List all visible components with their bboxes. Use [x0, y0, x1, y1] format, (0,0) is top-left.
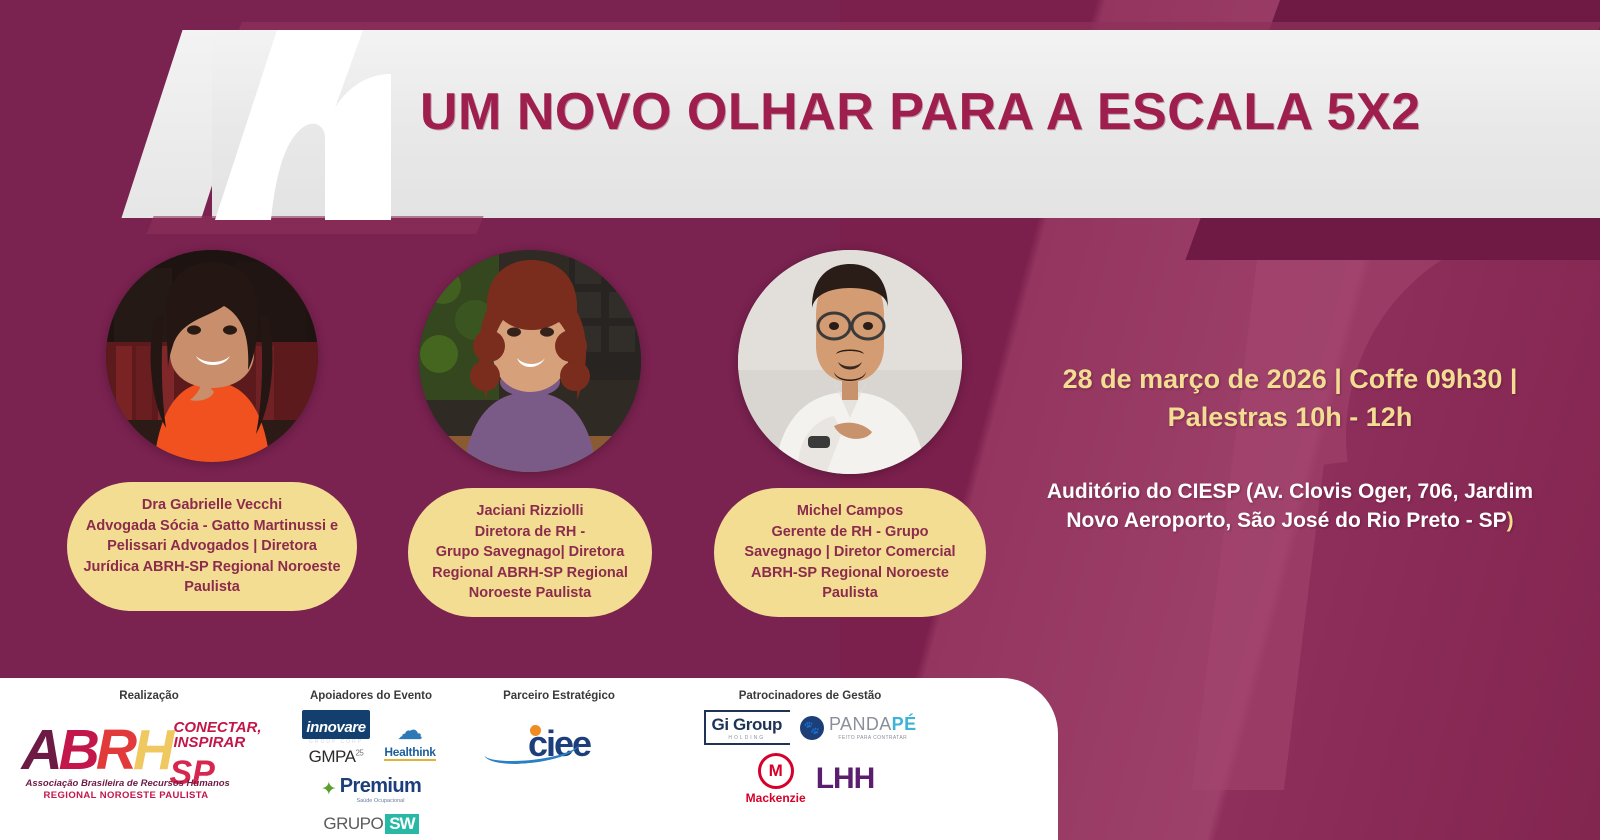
event-venue-line2: Novo Aeroporto, São José do Rio Preto - …: [1066, 509, 1506, 532]
premium-tagline: Saúde Ocupacional: [340, 798, 421, 804]
premium-name: Premium: [340, 775, 421, 798]
innovare-tagline: GROUP CORP: [302, 739, 370, 745]
ciee-logo: ciee: [468, 728, 650, 760]
speaker-role-1-line3: Jurídica ABRH-SP Regional Noroeste: [83, 557, 341, 578]
event-venue: Auditório do CIESP (Av. Clovis Oger, 706…: [1010, 477, 1570, 537]
speaker-card-1: Dra Gabrielle Vecchi Advogada Sócia - Ga…: [62, 250, 362, 462]
mackenzie-name: Mackenzie: [746, 791, 806, 805]
gi-group-tagline: HOLDING: [712, 735, 782, 741]
speaker-name-card-1: Dra Gabrielle Vecchi Advogada Sócia - Ga…: [67, 482, 357, 611]
gmpa-anniversary: 25: [355, 748, 363, 757]
speaker-card-3: Michel Campos Gerente de RH - Grupo Save…: [700, 250, 1000, 474]
healthink-logo: ☁ Healthink: [380, 717, 440, 761]
gruposw-name-part1: GRUPO: [323, 814, 383, 834]
footer-col-parceiro: Parceiro Estratégico ciee: [468, 690, 650, 760]
gmpa-name: GMPA: [309, 747, 356, 766]
page-title: UM NOVO OLHAR PARA A ESCALA 5X2: [420, 82, 1560, 142]
speaker-name-card-2: Jaciani Rizziolli Diretora de RH - Grupo…: [408, 488, 652, 617]
pandape-logo: 🐾 PANDAPÉ FEITO PARA CONTRATAR: [800, 714, 917, 741]
speaker-role-3-line1: Gerente de RH - Grupo: [730, 522, 970, 543]
mackenzie-logo: M Mackenzie: [746, 753, 806, 805]
abrh-letter-r: R: [96, 718, 133, 782]
abrh-letter-h: H: [133, 718, 170, 782]
speaker-name-2: Jaciani Rizziolli: [424, 501, 636, 522]
abrh-letters: ABRH: [22, 722, 171, 779]
abrh-letter-b: B: [59, 718, 96, 782]
gi-group-name: Gi Group: [712, 715, 782, 735]
abrh-tagline-line2: INSPIRAR: [174, 735, 262, 750]
gruposw-name-part2: SW: [385, 814, 418, 834]
ciee-dot-icon: [530, 725, 541, 736]
footer-heading-apoiadores: Apoiadores do Evento: [282, 690, 460, 702]
speaker-role-2-line4: Noroeste Paulista: [424, 583, 636, 604]
speaker-photo-2: [419, 250, 641, 472]
speakers-row: Dra Gabrielle Vecchi Advogada Sócia - Ga…: [40, 250, 1000, 630]
apoiadores-logo-row-1: innovare GROUP CORP GMPA25 ☁ Healthink: [282, 710, 460, 767]
abrh-sp-logo: ABRH CONECTAR, INSPIRAR SP Associação Br…: [22, 712, 277, 802]
event-venue-line1: Auditório do CIESP (Av. Clovis Oger, 706…: [1010, 477, 1570, 507]
footer-col-patrocinadores: Patrocinadores de Gestão Gi Group HOLDIN…: [660, 690, 960, 805]
speaker-role-2-line2: Grupo Savegnago| Diretora: [424, 542, 636, 563]
footer-col-realizacao: Realização ABRH CONECTAR, INSPIRAR SP As…: [18, 690, 280, 802]
speaker-role-2-line1: Diretora de RH -: [424, 522, 636, 543]
footer-col-apoiadores: Apoiadores do Evento innovare GROUP CORP…: [282, 690, 460, 834]
event-banner: UM NOVO OLHAR PARA A ESCALA 5X2: [0, 0, 1600, 840]
speaker-role-1-line2: Pelissari Advogados | Diretora: [83, 536, 341, 557]
footer-heading-realizacao: Realização: [18, 690, 280, 702]
event-info: 28 de março de 2026 | Coffe 09h30 | Pale…: [1010, 360, 1570, 536]
event-venue-close-paren: ): [1507, 509, 1514, 532]
speaker-role-2-line3: Regional ABRH-SP Regional: [424, 563, 636, 584]
speaker-role-1-line1: Advogada Sócia - Gatto Martinussi e: [83, 516, 341, 537]
abrh-tagline: CONECTAR, INSPIRAR: [174, 720, 262, 751]
speaker-name-1: Dra Gabrielle Vecchi: [83, 495, 341, 516]
gruposw-logo: GRUPO SW: [323, 814, 418, 834]
gmpa-logo: GMPA25: [302, 747, 370, 767]
innovare-gmpa-group: innovare GROUP CORP GMPA25: [302, 710, 370, 767]
speaker-name-3: Michel Campos: [730, 501, 970, 522]
event-datetime-line1: 28 de março de 2026 | Coffe 09h30 |: [1010, 360, 1570, 398]
abrh-subtitle: Associação Brasileira de Recursos Humano…: [26, 778, 230, 789]
speaker-role-3-line4: Paulista: [730, 583, 970, 604]
pandape-name: PANDAPÉ: [829, 714, 917, 735]
pandape-name-part2: PÉ: [892, 714, 917, 734]
pandape-text-group: PANDAPÉ FEITO PARA CONTRATAR: [829, 714, 917, 741]
mackenzie-mark-icon: M: [758, 753, 794, 789]
speaker-photo-3: [738, 250, 962, 474]
premium-text-group: Premium Saúde Ocupacional: [340, 775, 421, 804]
speaker-name-card-3: Michel Campos Gerente de RH - Grupo Save…: [714, 488, 986, 617]
gi-group-logo: Gi Group HOLDING: [704, 710, 790, 745]
patrocinadores-logo-row-1: Gi Group HOLDING 🐾 PANDAPÉ FEITO PARA CO…: [660, 710, 960, 745]
footer-heading-parceiro: Parceiro Estratégico: [468, 690, 650, 702]
healthink-name: Healthink: [384, 745, 435, 761]
premium-logo: ✦ Premium Saúde Ocupacional: [321, 775, 421, 804]
speaker-card-2: Jaciani Rizziolli Diretora de RH - Grupo…: [380, 250, 680, 472]
footer-heading-patrocinadores: Patrocinadores de Gestão: [660, 690, 960, 702]
abrh-h-logo-icon: [215, 30, 395, 220]
leaf-icon: ✦: [321, 780, 337, 799]
abrh-letter-a: A: [22, 718, 59, 782]
apoiadores-logo-row-2: ✦ Premium Saúde Ocupacional GRUPO SW: [282, 775, 460, 834]
innovare-name: innovare: [302, 710, 370, 739]
abrh-tagline-line1: CONECTAR,: [174, 720, 262, 735]
speaker-role-1-line4: Paulista: [83, 577, 341, 598]
speaker-photo-1: [106, 250, 318, 462]
speaker-role-3-line2: Savegnago | Diretor Comercial: [730, 542, 970, 563]
brain-icon: ☁: [380, 717, 440, 743]
innovare-logo: innovare GROUP CORP: [302, 710, 370, 745]
abrh-region: REGIONAL NOROESTE PAULISTA: [44, 790, 209, 801]
paw-icon: 🐾: [800, 716, 824, 740]
event-venue-line2-wrap: Novo Aeroporto, São José do Rio Preto - …: [1010, 506, 1570, 536]
event-datetime: 28 de março de 2026 | Coffe 09h30 | Pale…: [1010, 360, 1570, 437]
sponsors-footer: Realização ABRH CONECTAR, INSPIRAR SP As…: [0, 678, 1058, 840]
lhh-logo: LHH: [816, 762, 875, 796]
speaker-role-3-line3: ABRH-SP Regional Noroeste: [730, 563, 970, 584]
pandape-tagline: FEITO PARA CONTRATAR: [829, 735, 917, 741]
patrocinadores-logo-row-2: M Mackenzie LHH: [660, 753, 960, 805]
pandape-name-part1: PANDA: [829, 714, 892, 734]
event-datetime-line2: Palestras 10h - 12h: [1010, 398, 1570, 436]
